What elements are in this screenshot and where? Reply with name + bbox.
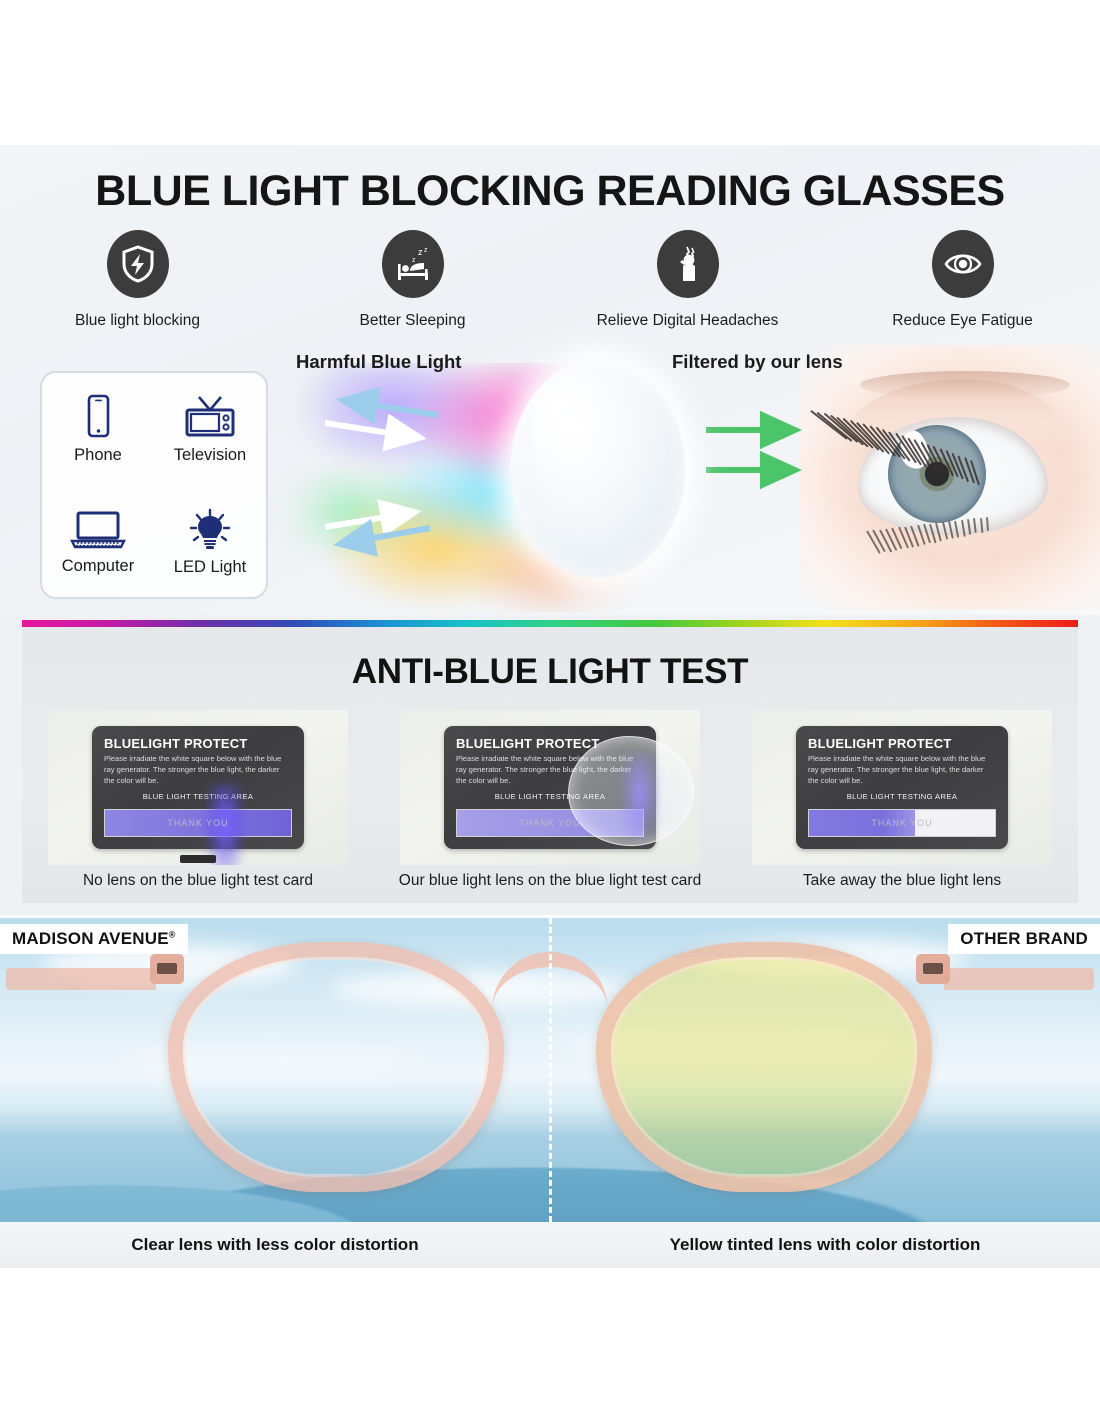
temple-arm-right (944, 968, 1094, 990)
brand-label-other-brand: OTHER BRAND (948, 924, 1100, 954)
test-section-title: ANTI-BLUE LIGHT TEST (22, 652, 1078, 692)
strip-label: THANK YOU (167, 818, 228, 828)
test-caption: No lens on the blue light test card (22, 872, 374, 890)
television-icon (179, 394, 241, 442)
hinge-left (150, 954, 184, 984)
temple-arm-left (6, 968, 156, 990)
caption-filtered-by-lens: Filtered by our lens (672, 351, 843, 373)
device-item-computer: Computer (42, 485, 154, 597)
bed-sleep-icon: z z z (382, 230, 444, 298)
device-label: LED Light (174, 558, 246, 577)
feature-item-better-sleeping: z z z Better Sleeping (275, 230, 550, 345)
test-panel: ANTI-BLUE LIGHT TEST BLUELIGHT PROTECT P… (22, 627, 1078, 903)
comparison-caption-list: Clear lens with less color distortion Ye… (0, 1222, 1100, 1268)
brand-label-madison-avenue: MADISON AVENUE® (0, 924, 188, 954)
card-title: BLUELIGHT PROTECT (808, 736, 996, 751)
feature-label: Blue light blocking (75, 312, 200, 330)
test-caption: Our blue light lens on the blue light te… (374, 872, 726, 890)
headache-person-icon (657, 230, 719, 298)
caption-harmful-blue-light: Harmful Blue Light (296, 351, 461, 373)
feature-item-reduce-eye-fatigue: Reduce Eye Fatigue (825, 230, 1100, 345)
card-body: Please irradiate the white square below … (104, 753, 292, 786)
device-item-phone: Phone (42, 373, 154, 485)
card-area-label: BLUE LIGHT TESTING AREA (104, 792, 292, 801)
device-label: Computer (62, 557, 134, 576)
blue-light-sources-panel: Phone Television Co (40, 371, 268, 599)
rainbow-divider-bar (22, 620, 1078, 627)
card-title: BLUELIGHT PROTECT (104, 736, 292, 751)
registered-trademark-icon: ® (169, 929, 176, 939)
feature-label: Reduce Eye Fatigue (892, 312, 1032, 330)
test-caption: Take away the blue light lens (726, 872, 1078, 890)
led-light-icon (183, 506, 237, 554)
svg-text:z: z (412, 257, 416, 264)
card-body: Please irradiate the white square below … (808, 753, 996, 786)
blue-ray-generator (180, 855, 216, 863)
comparison-caption-left: Clear lens with less color distortion (0, 1222, 550, 1268)
feature-label: Better Sleeping (360, 312, 466, 330)
eye-photo (800, 345, 1100, 610)
phone-icon (81, 394, 115, 442)
lens-illustration (510, 360, 685, 578)
card-testing-strip: THANK YOU (808, 809, 996, 837)
feature-label: Relieve Digital Headaches (597, 312, 779, 330)
device-label: Television (174, 446, 246, 465)
test-caption-list: No lens on the blue light test card Our … (22, 872, 1078, 890)
test-card-lens-removed: BLUELIGHT PROTECT Please irradiate the w… (726, 707, 1078, 867)
feature-item-blue-light-blocking: Blue light blocking (0, 230, 275, 345)
strip-label: THANK YOU (519, 818, 580, 828)
eye-icon (932, 230, 994, 298)
svg-text:z: z (424, 247, 428, 254)
device-item-television: Television (154, 373, 266, 485)
brand-name: MADISON AVENUE (12, 929, 169, 948)
hinge-right (916, 954, 950, 984)
card-area-label: BLUE LIGHT TESTING AREA (808, 792, 996, 801)
comparison-divider (549, 918, 552, 1222)
device-item-led-light: LED Light (154, 485, 266, 597)
comparison-caption-right: Yellow tinted lens with color distortion (550, 1222, 1100, 1268)
shield-bolt-icon (107, 230, 169, 298)
bluelight-test-card: BLUELIGHT PROTECT Please irradiate the w… (796, 726, 1008, 849)
test-card-no-lens: BLUELIGHT PROTECT Please irradiate the w… (22, 707, 374, 867)
page-title: BLUE LIGHT BLOCKING READING GLASSES (0, 167, 1100, 216)
clear-lens (168, 942, 504, 1192)
hero-section: BLUE LIGHT BLOCKING READING GLASSES Blue… (0, 145, 1100, 615)
lens-comparison-section: MADISON AVENUE® OTHER BRAND (0, 918, 1100, 1222)
device-label: Phone (74, 446, 122, 465)
test-card-with-lens: BLUELIGHT PROTECT Please irradiate the w… (374, 707, 726, 867)
bluelight-test-card: BLUELIGHT PROTECT Please irradiate the w… (92, 726, 304, 849)
lens-overlay (568, 736, 694, 846)
card-testing-strip: THANK YOU (104, 809, 292, 837)
computer-icon (67, 507, 129, 553)
feature-item-relieve-headaches: Relieve Digital Headaches (550, 230, 825, 345)
svg-text:z: z (418, 247, 423, 257)
yellow-tinted-lens (596, 942, 932, 1192)
test-card-list: BLUELIGHT PROTECT Please irradiate the w… (22, 707, 1078, 867)
feature-list: Blue light blocking z z z (0, 230, 1100, 345)
anti-blue-light-test-section: ANTI-BLUE LIGHT TEST BLUELIGHT PROTECT P… (0, 615, 1100, 915)
strip-label: THANK YOU (871, 818, 932, 828)
product-infographic: BLUE LIGHT BLOCKING READING GLASSES Blue… (0, 0, 1100, 1422)
